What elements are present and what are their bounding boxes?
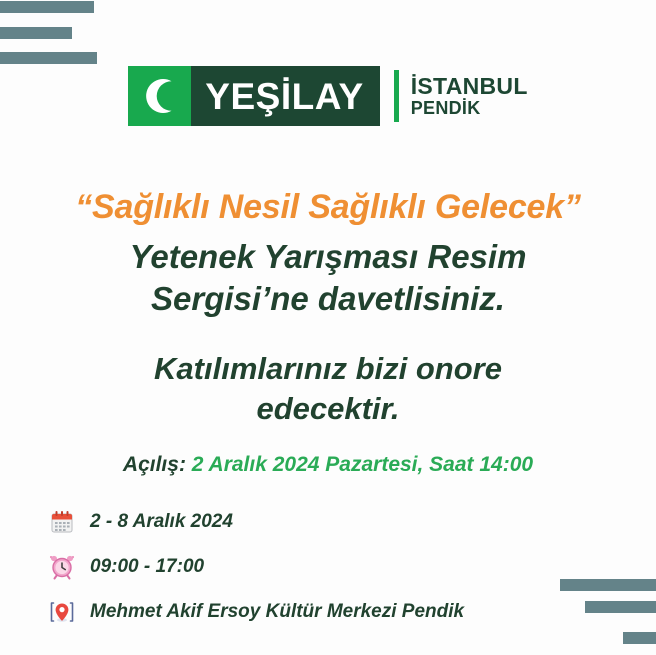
branch-district-label: PENDİK <box>411 99 528 118</box>
yesilay-logo: YEŞİLAY <box>128 66 379 126</box>
opening-label: Açılış: <box>123 453 186 476</box>
yesilay-wordmark-panel: YEŞİLAY <box>191 66 379 126</box>
brand-header: YEŞİLAY İSTANBUL PENDİK <box>0 66 656 126</box>
location-pin-icon <box>48 598 76 626</box>
detail-text-venue: Mehmet Akif Ersoy Kültür Merkezi Pendik <box>90 601 464 623</box>
alarm-clock-icon <box>48 553 76 581</box>
headline-quote: “Sağlıklı Nesil Sağlıklı Gelecek” <box>0 188 656 227</box>
decor-bar-bottom-right-2 <box>585 601 656 613</box>
decor-bar-bottom-right-1 <box>560 579 656 591</box>
branch-divider-rule <box>394 70 399 122</box>
decor-bar-top-left-3 <box>0 52 97 64</box>
decor-bar-top-left-1 <box>0 1 94 13</box>
detail-text-date: 2 - 8 Aralık 2024 <box>90 511 233 533</box>
poster-canvas: YEŞİLAY İSTANBUL PENDİK “Sağlıklı Nesil … <box>0 0 656 655</box>
opening-line: Açılış: 2 Aralık 2024 Pazartesi, Saat 14… <box>0 453 656 477</box>
honor-message-line-2: edecektir. <box>0 389 656 429</box>
subheadline-line-2: Sergisi’ne davetlisiniz. <box>0 278 656 320</box>
branch-label: İSTANBUL PENDİK <box>394 68 528 124</box>
opening-datetime: 2 Aralık 2024 Pazartesi, Saat 14:00 <box>192 453 533 476</box>
detail-row-date: 2 - 8 Aralık 2024 <box>48 508 464 536</box>
honor-message-line-1: Katılımlarınız bizi onore <box>0 349 656 389</box>
detail-row-venue: Mehmet Akif Ersoy Kültür Merkezi Pendik <box>48 598 464 626</box>
detail-row-time: 09:00 - 17:00 <box>48 553 464 581</box>
yesilay-wordmark-text: YEŞİLAY <box>205 78 363 115</box>
calendar-icon <box>48 508 76 536</box>
branch-city-label: İSTANBUL <box>411 74 528 98</box>
event-details-list: 2 - 8 Aralık 2024 09:00 - 17:00 <box>48 508 464 626</box>
detail-text-time: 09:00 - 17:00 <box>90 556 204 578</box>
decor-bar-bottom-right-3 <box>623 632 656 644</box>
branch-text-group: İSTANBUL PENDİK <box>411 74 528 117</box>
decor-bar-top-left-2 <box>0 27 72 39</box>
honor-message: Katılımlarınız bizi onore edecektir. <box>0 349 656 430</box>
subheadline: Yetenek Yarışması Resim Sergisi’ne davet… <box>0 236 656 320</box>
crescent-icon <box>128 66 191 126</box>
subheadline-line-1: Yetenek Yarışması Resim <box>0 236 656 278</box>
